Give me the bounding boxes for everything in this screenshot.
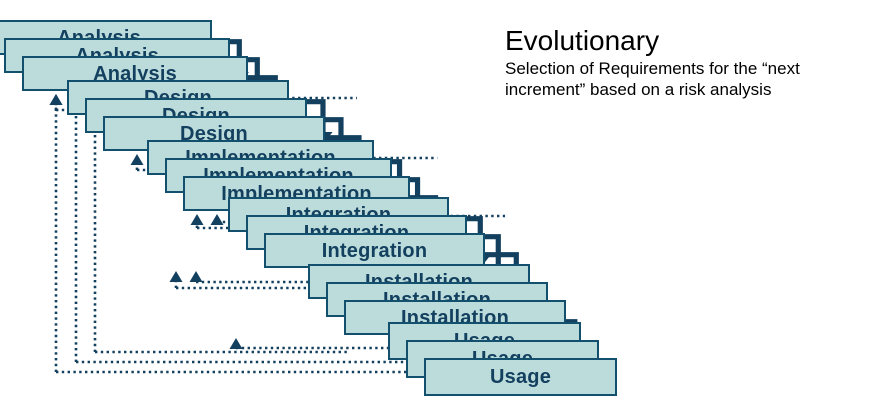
page-title: Evolutionary [505, 26, 875, 56]
phase-box-integration-front: Integration [264, 233, 485, 268]
phase-label-usage: Usage [490, 367, 551, 387]
evolutionary-waterfall-diagram: AnalysisAnalysisAnalysisDesignDesignDesi… [0, 0, 881, 407]
phase-box-usage-front: Usage [424, 358, 617, 396]
phase-label-integration: Integration [322, 241, 428, 261]
title-block: Evolutionary Selection of Requirements f… [505, 26, 875, 101]
page-subtitle: Selection of Requirements for the “next … [505, 58, 875, 101]
